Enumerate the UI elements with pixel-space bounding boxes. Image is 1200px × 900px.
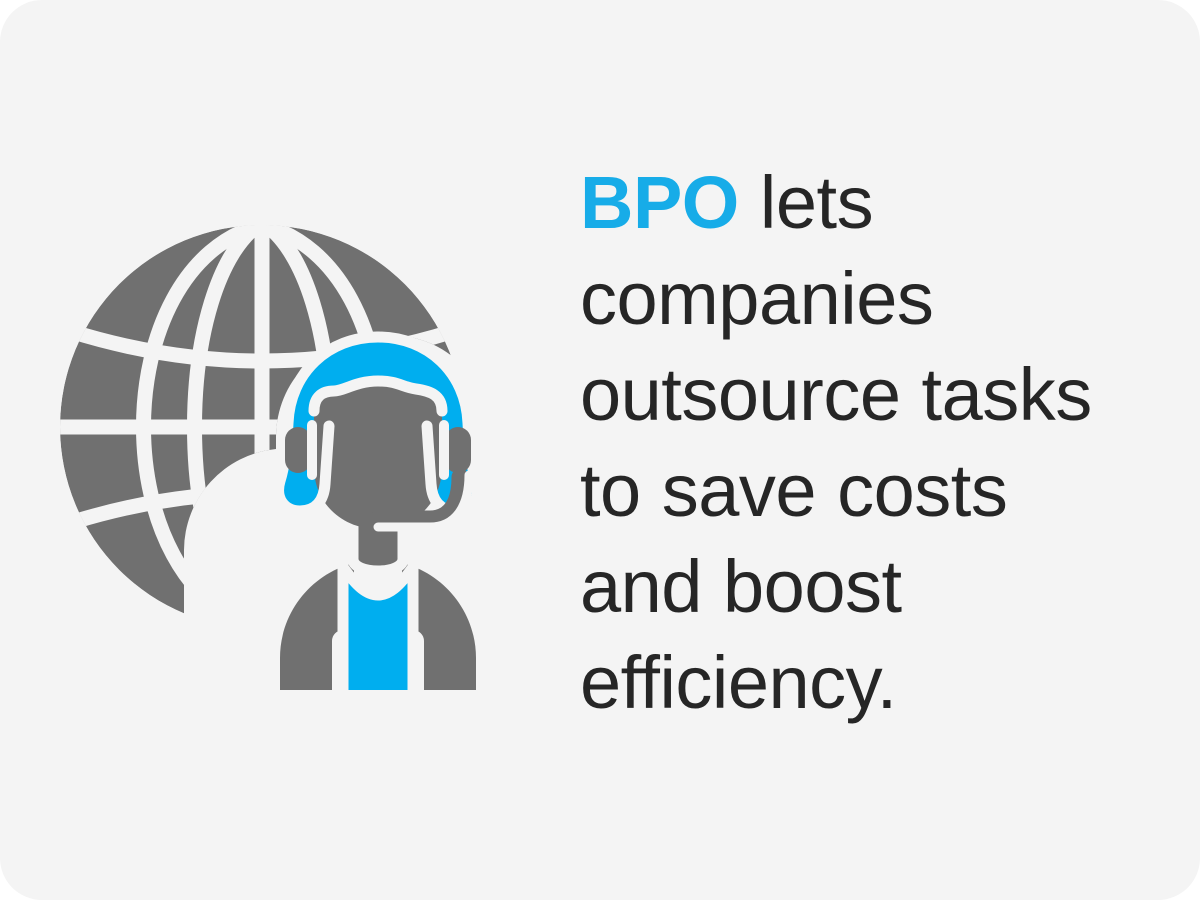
globe-with-call-center-agent-icon	[60, 195, 520, 695]
illustration-column	[0, 0, 560, 900]
agent-figure	[279, 337, 478, 690]
page-title: BPO lets companies outsource tasks to sa…	[580, 155, 1140, 731]
card-layout: BPO lets companies outsource tasks to sa…	[0, 0, 1200, 900]
headline-rest: lets companies outsource tasks to save c…	[580, 161, 1092, 724]
text-column: BPO lets companies outsource tasks to sa…	[560, 0, 1200, 900]
info-card: BPO lets companies outsource tasks to sa…	[0, 0, 1200, 900]
agent-face	[314, 381, 442, 529]
brand-term: BPO	[580, 161, 739, 244]
